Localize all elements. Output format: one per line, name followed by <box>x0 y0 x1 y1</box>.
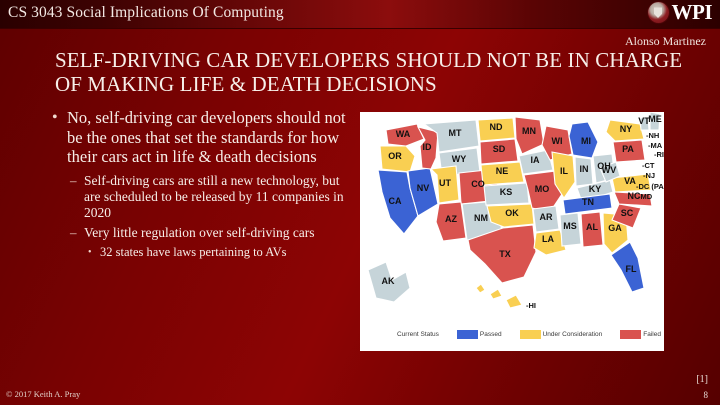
bullet-marker: • <box>52 108 67 167</box>
state-label-va: VA <box>624 176 636 186</box>
state-label-la: LA <box>542 234 554 244</box>
presenter-name: Alonso Martinez <box>625 34 706 49</box>
course-title: CS 3043 Social Implications Of Computing <box>8 4 284 22</box>
state-label-wi: WI <box>552 136 563 146</box>
state-label-ak: AK <box>382 276 395 286</box>
state-label-ar: AR <box>540 212 553 222</box>
bullet-item-level3: • 32 states have laws pertaining to AVs <box>88 245 352 260</box>
state-label-or: OR <box>388 151 402 161</box>
legend-label-passed: Passed <box>480 331 502 338</box>
legend-item-passed: Passed <box>457 330 502 339</box>
wpi-logo: WPI <box>648 2 713 23</box>
state-label-nm: NM <box>474 213 488 223</box>
legend-swatch-under-consideration <box>520 330 541 339</box>
bullet-item-level2: – Self-driving cars are still a new tech… <box>70 173 352 221</box>
state-label-nd: ND <box>490 122 503 132</box>
callout-label-ri: -RI <box>654 150 664 159</box>
state-label-ia: IA <box>531 155 541 165</box>
state-label-mt: MT <box>449 128 462 138</box>
state-label-pa: PA <box>622 144 634 154</box>
state-label-sd: SD <box>493 144 506 154</box>
legend-item-failed: Failed <box>620 330 661 339</box>
wpi-seal-icon <box>648 2 669 23</box>
state-label-wa: WA <box>396 129 411 139</box>
bullet-text: No, self-driving car developers should n… <box>67 108 352 167</box>
legend-title: Current Status <box>397 331 439 338</box>
wpi-logo-text: WPI <box>672 2 713 23</box>
state-label-me: ME <box>648 114 662 124</box>
callout-label-md: -MD <box>638 192 653 201</box>
bullet-marker: • <box>88 245 100 260</box>
callout-label-ct: -CT <box>642 161 655 170</box>
slide-number: 8 <box>704 390 709 400</box>
state-label-mo: MO <box>535 184 550 194</box>
state-label-ga: GA <box>608 223 622 233</box>
state-label-wy: WY <box>452 154 467 164</box>
state-label-ks: KS <box>500 187 513 197</box>
map-graphic: WAORCANVIDMTWYUTCOAZNMNDSDNEKSOKTXMNIAMO… <box>360 112 664 351</box>
bullet-marker: – <box>70 225 84 241</box>
state-label-sc: SC <box>621 208 634 218</box>
legend-item-under-consideration: Under Consideration <box>520 330 603 339</box>
state-label-co: CO <box>471 179 485 189</box>
state-label-mn: MN <box>522 126 536 136</box>
legend-swatch-passed <box>457 330 478 339</box>
bullet-item-level2: – Very little regulation over self-drivi… <box>70 225 352 241</box>
callout-label-nh: -NH <box>646 131 659 140</box>
citation-reference: [1] <box>696 374 708 385</box>
callout-label-ma: -MA <box>648 141 663 150</box>
legend-label-failed: Failed <box>643 331 661 338</box>
state-label-tx: TX <box>499 249 511 259</box>
state-label-il: IL <box>560 166 569 176</box>
state-label-id: ID <box>423 142 433 152</box>
state-label-mi: MI <box>581 136 591 146</box>
state-label-tn: TN <box>582 197 594 207</box>
state-label-nv: NV <box>417 183 430 193</box>
bullet-marker: – <box>70 173 84 221</box>
state-label-ut: UT <box>439 178 451 188</box>
state-label-ok: OK <box>505 208 519 218</box>
state-label-fl: FL <box>626 264 637 274</box>
state-label-ne: NE <box>496 166 509 176</box>
presentation-slide: CS 3043 Social Implications Of Computing… <box>0 0 720 405</box>
state-label-ca: CA <box>389 196 402 206</box>
slide-header-band: CS 3043 Social Implications Of Computing… <box>0 0 720 29</box>
state-label-az: AZ <box>445 214 457 224</box>
state-label-ms: MS <box>563 221 577 231</box>
bullet-list: • No, self-driving car developers should… <box>52 108 352 260</box>
state-label-in: IN <box>580 164 589 174</box>
legend-swatch-failed <box>620 330 641 339</box>
state-label-al: AL <box>586 222 598 232</box>
us-state-status-map: WAORCANVIDMTWYUTCOAZNMNDSDNEKSOKTXMNIAMO… <box>360 112 664 351</box>
callout-label-nj: -NJ <box>643 171 655 180</box>
callout-label-dcpassed: -DC (PASSED) <box>636 182 664 191</box>
bullet-text: 32 states have laws pertaining to AVs <box>100 245 287 260</box>
state-label-ny: NY <box>620 124 633 134</box>
map-legend: Current Status Passed Under Consideratio… <box>360 330 664 339</box>
callout-label-hi: -HI <box>526 301 536 310</box>
state-label-wv: WV <box>602 165 617 175</box>
slide-title: SELF-DRIVING CAR DEVELOPERS SHOULD NOT B… <box>55 48 685 96</box>
bullet-text: Very little regulation over self-driving… <box>84 225 315 241</box>
bullet-text: Self-driving cars are still a new techno… <box>84 173 352 221</box>
state-label-ky: KY <box>589 184 602 194</box>
legend-label-under-consideration: Under Consideration <box>543 331 603 338</box>
bullet-item-level1: • No, self-driving car developers should… <box>52 108 352 167</box>
copyright-notice: © 2017 Keith A. Pray <box>6 389 80 399</box>
